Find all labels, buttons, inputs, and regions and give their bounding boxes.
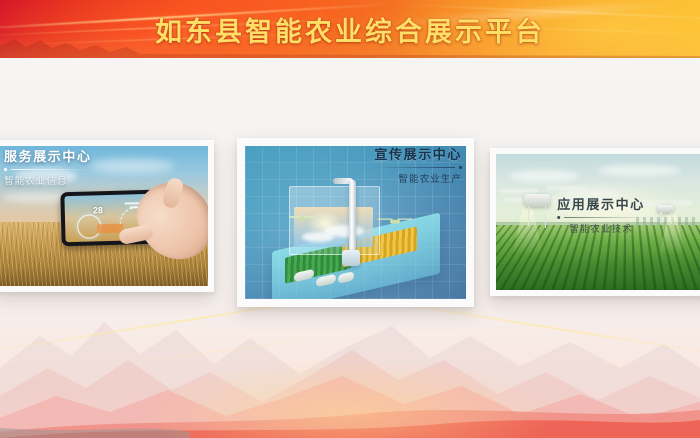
- panel-service-subtitle: 智能农业信息: [4, 173, 92, 187]
- drone-icon: [289, 213, 315, 223]
- drone-blade: [304, 216, 315, 218]
- storage-tank: [342, 250, 360, 266]
- panel-promotion-title: 宣传展示中心: [374, 148, 462, 163]
- cloud-shape: [90, 159, 174, 173]
- divider-dot-icon: [557, 216, 560, 219]
- panel-service-display-center[interactable]: 28 服务展示中心 智能农业信息: [0, 140, 214, 292]
- cloud-shape: [597, 165, 681, 176]
- drone-icon: [379, 215, 412, 228]
- drone-icon: [641, 195, 693, 223]
- drone-leg: [671, 212, 673, 224]
- panel-application-display-center[interactable]: 应用展示中心 智能农业技术: [490, 148, 700, 296]
- drone-body: [390, 220, 399, 224]
- cloud-shape: [302, 232, 334, 242]
- platform-landing-page: 如东县智能农业综合展示平台: [0, 0, 700, 438]
- panel-service-title: 服务展示中心: [4, 150, 92, 165]
- drone-leg: [528, 206, 530, 226]
- divider-line: [564, 217, 645, 218]
- caption-divider: [557, 216, 645, 219]
- panel-application-caption: 应用展示中心 智能农业技术: [557, 198, 645, 235]
- sensor-pole: [349, 180, 356, 253]
- caption-divider: [374, 166, 462, 169]
- divider-line: [374, 167, 455, 168]
- page-title: 如东县智能农业综合展示平台: [0, 0, 700, 58]
- panel-application-title: 应用展示中心: [557, 198, 645, 213]
- temperature-readout: 28: [93, 205, 103, 215]
- caption-divider: [4, 168, 92, 171]
- drone-rotor: [547, 187, 587, 189]
- drone-rotor: [500, 190, 538, 192]
- panel-promotion-display-center[interactable]: 宣传展示中心 智能农业生产: [237, 138, 474, 307]
- panel-application-subtitle: 智能农业技术: [557, 221, 645, 235]
- panel-promotion-subtitle: 智能农业生产: [374, 171, 462, 185]
- panel-promotion-caption: 宣传展示中心 智能农业生产: [374, 148, 462, 185]
- divider-line: [11, 169, 92, 170]
- drone-leg: [545, 206, 547, 228]
- divider-dot-icon: [4, 168, 7, 171]
- drone-leg: [660, 212, 662, 223]
- header-banner: 如东县智能农业综合展示平台: [0, 0, 700, 58]
- drone-blade: [398, 219, 412, 221]
- drone-rotor: [670, 202, 694, 204]
- divider-dot-icon: [459, 166, 462, 169]
- panel-service-caption: 服务展示中心 智能农业信息: [4, 150, 92, 187]
